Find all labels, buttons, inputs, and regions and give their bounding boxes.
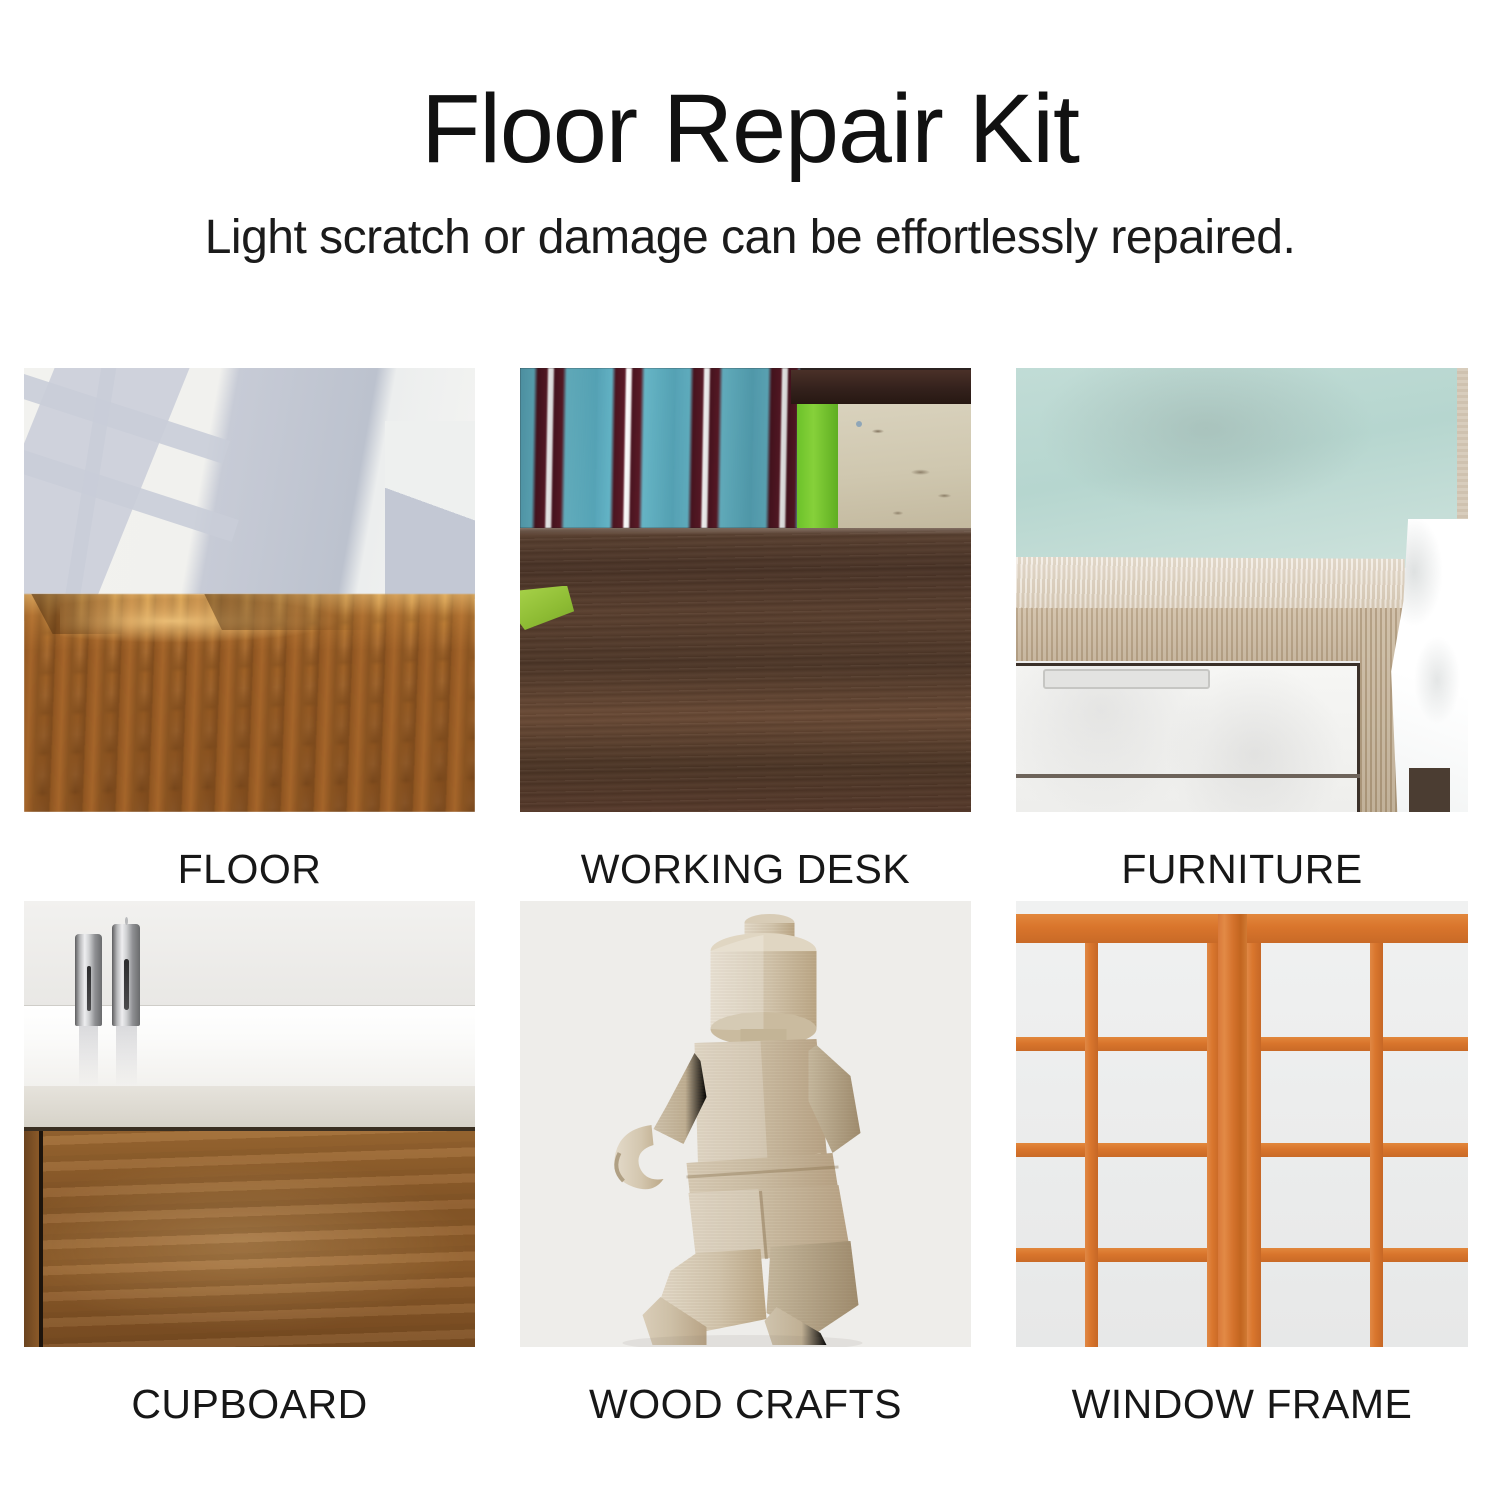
application-gallery-grid: FLOOR WORKING DESK	[24, 368, 1478, 1436]
window-muntin-v4	[1370, 943, 1383, 1347]
window-muntin-v1	[1085, 943, 1098, 1347]
grinder-reflection-right	[116, 1026, 137, 1086]
window-shadow-right	[385, 421, 475, 599]
caption-cupboard: CUPBOARD	[24, 1347, 475, 1436]
gallery-item-working-desk[interactable]: WORKING DESK	[520, 368, 971, 901]
wooden-minifigure	[520, 901, 971, 1347]
desk-edge-highlight	[520, 528, 971, 535]
floor-cast-shadow-right	[205, 594, 412, 630]
green-panel	[797, 404, 838, 528]
grinder-knob	[125, 917, 128, 925]
nightstand-front-apron	[1016, 608, 1405, 661]
dark-wood-rail	[791, 370, 971, 403]
gallery-item-floor[interactable]: FLOOR	[24, 368, 475, 901]
grinder-reflection-left	[79, 1026, 98, 1086]
floor-photo	[24, 368, 475, 812]
countertop-edge	[24, 1086, 475, 1128]
walnut-cabinet-door	[24, 1131, 475, 1347]
gallery-item-furniture[interactable]: FURNITURE	[1016, 368, 1468, 901]
pepper-grinder-right	[112, 924, 140, 1026]
pepper-grinder-left	[75, 934, 102, 1025]
walnut-desk-surface	[520, 528, 971, 812]
caption-window-frame: WINDOW FRAME	[1016, 1347, 1468, 1436]
drawer-divider	[1016, 774, 1360, 778]
product-infographic: Floor Repair Kit Light scratch or damage…	[0, 0, 1500, 1500]
gallery-item-window-frame[interactable]: WINDOW FRAME	[1016, 901, 1468, 1436]
cabinet-left-edge	[24, 1131, 39, 1347]
working-desk-photo	[520, 368, 971, 812]
drawer-handle[interactable]	[1043, 669, 1210, 689]
mint-wall	[1016, 368, 1468, 568]
bed-shadow	[1409, 768, 1450, 812]
cupboard-photo	[24, 901, 475, 1347]
curtain-shading	[520, 368, 800, 528]
window-center-mullion	[1218, 914, 1248, 1347]
caption-floor: FLOOR	[24, 812, 475, 901]
page-subtitle: Light scratch or damage can be effortles…	[0, 210, 1500, 265]
caption-furniture: FURNITURE	[1016, 812, 1468, 901]
nightstand-top-surface	[1016, 557, 1405, 613]
grinder-slot-right	[124, 959, 128, 1010]
header: Floor Repair Kit Light scratch or damage…	[0, 0, 1500, 265]
grinder-slot-left	[87, 966, 91, 1012]
page-title: Floor Repair Kit	[0, 78, 1500, 180]
window-frame-photo	[1016, 901, 1468, 1347]
gallery-item-wood-crafts[interactable]: WOOD CRAFTS	[520, 901, 971, 1436]
window-muntin-v3	[1247, 943, 1260, 1347]
cabinet-door-gap	[39, 1131, 43, 1347]
wood-crafts-photo	[520, 901, 971, 1347]
gallery-item-cupboard[interactable]: CUPBOARD	[24, 901, 475, 1436]
floor-cast-shadow-left	[31, 594, 151, 634]
caption-working-desk: WORKING DESK	[520, 812, 971, 901]
furniture-photo	[1016, 368, 1468, 812]
caption-wood-crafts: WOOD CRAFTS	[520, 1347, 971, 1436]
